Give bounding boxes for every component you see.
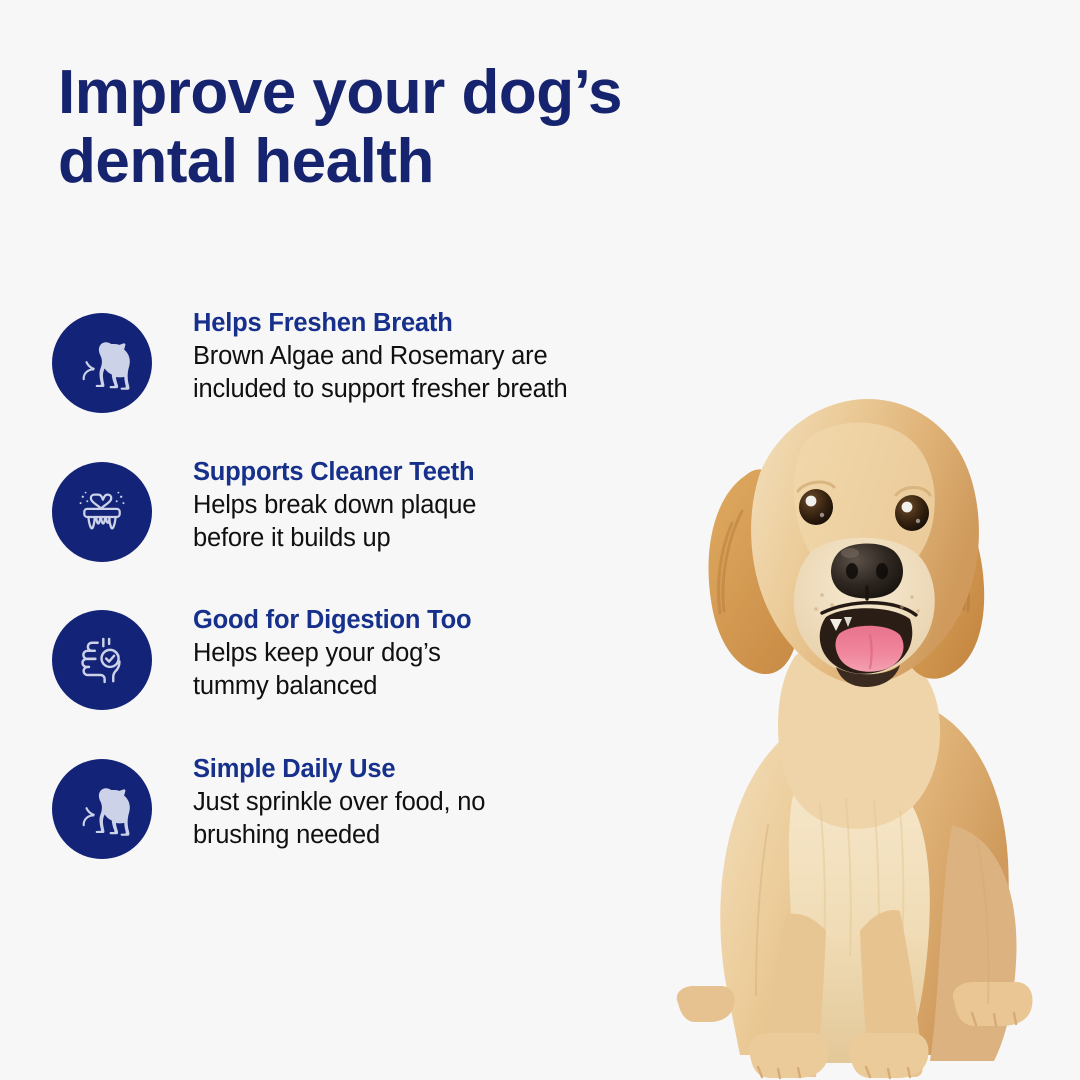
feature-title: Helps Freshen Breath — [193, 307, 793, 340]
feature-item-daily-use: Simple Daily Use Just sprinkle over food… — [52, 759, 672, 907]
page-title: Improve your dog’s dental health — [58, 58, 758, 197]
feature-item-cleaner-teeth: Supports Cleaner Teeth Helps break down … — [52, 462, 672, 610]
feature-item-freshen-breath: Helps Freshen Breath Brown Algae and Ros… — [52, 313, 672, 462]
sitting-dog-icon — [52, 759, 152, 859]
sitting-dog-icon — [52, 313, 152, 413]
digestion-intestine-check-icon — [52, 610, 152, 710]
dog-photo — [600, 355, 1080, 1080]
page-title-line-2: dental health — [58, 127, 758, 196]
dog-teeth-icon — [52, 462, 152, 562]
infographic-canvas: Improve your dog’s dental health Helps F… — [0, 0, 1080, 1080]
page-title-line-1: Improve your dog’s — [58, 58, 758, 127]
feature-list: Helps Freshen Breath Brown Algae and Ros… — [52, 313, 672, 907]
feature-item-digestion: Good for Digestion Too Helps keep your d… — [52, 610, 672, 759]
